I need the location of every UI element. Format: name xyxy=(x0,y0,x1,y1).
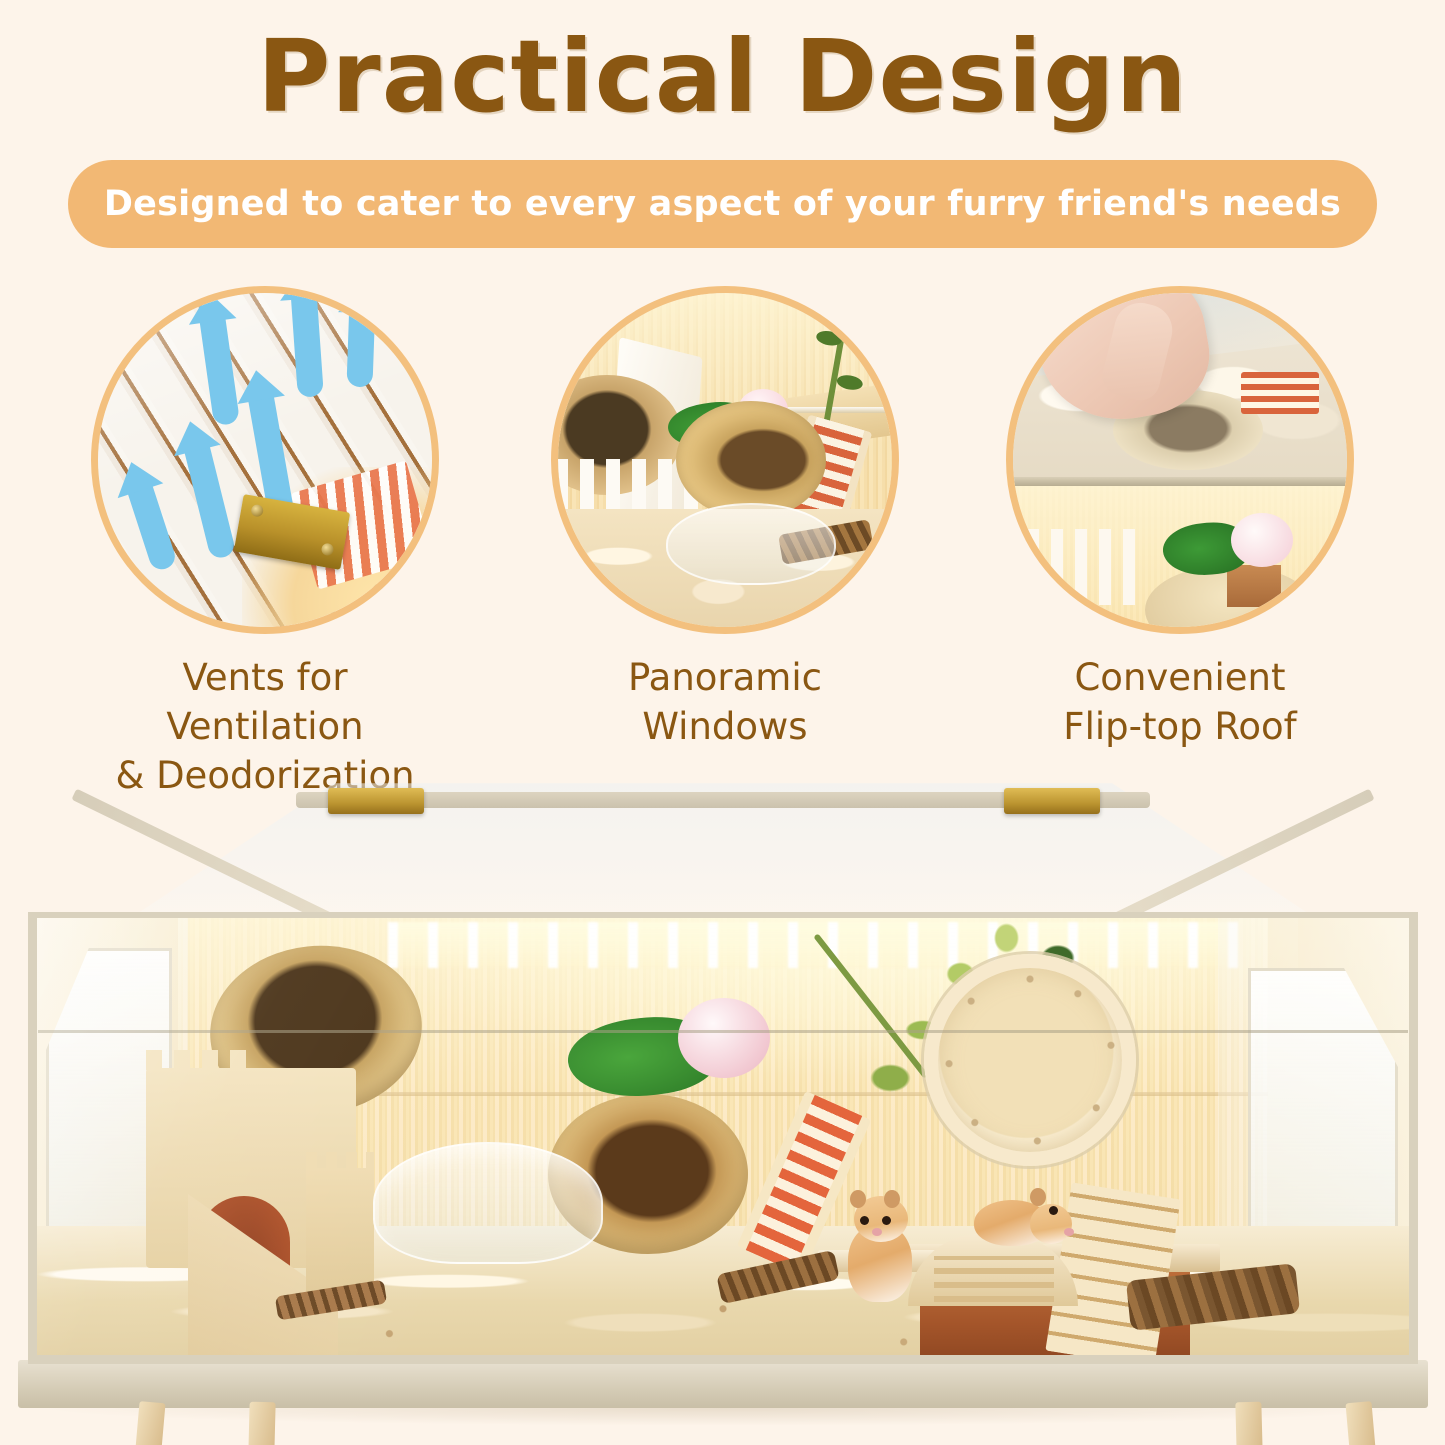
subtitle-text: Designed to cater to every aspect of you… xyxy=(104,184,1341,224)
brass-hinge-left-icon xyxy=(328,788,424,814)
hamster-ear-icon xyxy=(884,1190,900,1208)
caption-line-1: Convenient xyxy=(1000,654,1360,703)
flip-top-photo xyxy=(1013,293,1347,627)
cage-body xyxy=(28,912,1418,1364)
wheel-rim-dots xyxy=(938,968,1122,1152)
caption-line-1: Vents for Ventilation xyxy=(85,654,445,752)
caption-line-1: Panoramic xyxy=(545,654,905,703)
product-photo xyxy=(0,762,1445,1445)
hamster-ear-icon xyxy=(1030,1188,1046,1206)
hamster-on-platform xyxy=(974,1192,1072,1246)
base-frame xyxy=(18,1360,1428,1408)
hamster-eye-icon xyxy=(1049,1206,1058,1215)
hamster-nose-icon xyxy=(872,1228,882,1236)
base-shadow xyxy=(30,1408,1415,1426)
brass-hinge-right-icon xyxy=(1004,788,1100,814)
feature-row: Vents for Ventilation & Deodorization xyxy=(0,286,1445,736)
hamster-eye-icon xyxy=(860,1216,869,1225)
seesaw-rungs xyxy=(934,1256,1054,1302)
feature-flip-top-roof: Convenient Flip-top Roof xyxy=(1000,286,1360,752)
plant-pot xyxy=(1227,565,1281,607)
feature-caption-panoramic-windows: Panoramic Windows xyxy=(545,654,905,752)
product-feature-page: Practical Design Designed to cater to ev… xyxy=(0,0,1445,1445)
exercise-wheel xyxy=(924,954,1136,1166)
airflow-arrow-icon xyxy=(346,299,375,388)
feature-panoramic-windows: Panoramic Windows xyxy=(545,286,905,752)
flower-icon xyxy=(1231,513,1293,567)
panoramic-photo xyxy=(558,293,892,627)
hamster-standing xyxy=(840,1196,926,1302)
upper-compartment xyxy=(1013,293,1347,480)
glass-igloo xyxy=(373,1142,603,1264)
ladder-icon xyxy=(1241,372,1319,414)
picket-fence xyxy=(1027,529,1137,605)
ventilation-photo xyxy=(98,293,432,627)
feature-image-flip-top-roof xyxy=(1006,286,1354,634)
feature-ventilation: Vents for Ventilation & Deodorization xyxy=(85,286,445,800)
hamster-eye-icon xyxy=(882,1216,891,1225)
flower-icon xyxy=(678,998,770,1078)
tunnel-nest xyxy=(676,401,826,519)
feature-caption-flip-top-roof: Convenient Flip-top Roof xyxy=(1000,654,1360,752)
glass-bowl xyxy=(666,503,836,585)
leg xyxy=(1235,1402,1264,1445)
lid-seam xyxy=(1013,477,1347,486)
hamster-ear-icon xyxy=(850,1190,866,1208)
caption-line-2: Windows xyxy=(545,703,905,752)
caption-line-2: Flip-top Roof xyxy=(1000,703,1360,752)
leg xyxy=(246,1402,275,1445)
hamster-nose-icon xyxy=(1064,1228,1074,1236)
subtitle-banner: Designed to cater to every aspect of you… xyxy=(68,160,1377,248)
feature-image-ventilation xyxy=(91,286,439,634)
glass-seam xyxy=(38,1030,1408,1033)
feature-image-panoramic-windows xyxy=(551,286,899,634)
page-title: Practical Design xyxy=(0,22,1445,132)
